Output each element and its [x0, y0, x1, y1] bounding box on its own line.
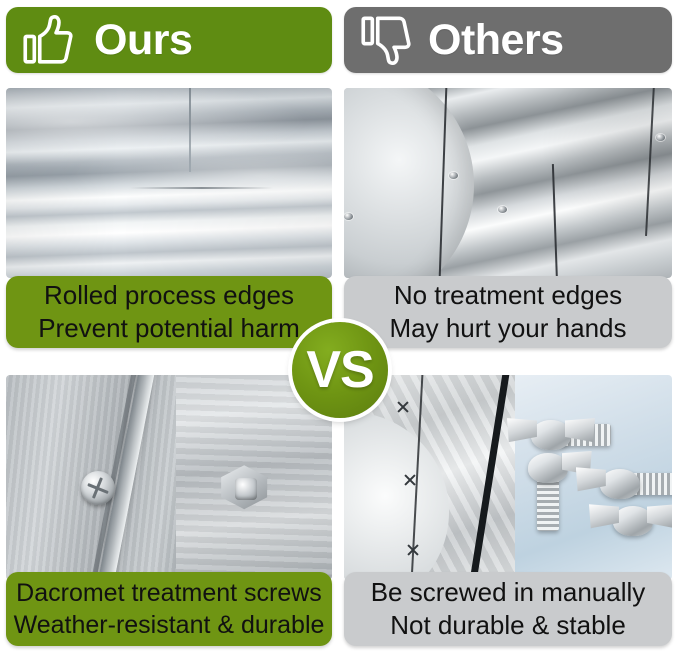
caption-line: Be screwed in manually [371, 576, 646, 609]
bolt-thread [537, 479, 559, 531]
seam-line [189, 88, 191, 172]
caption-line: Rolled process edges [44, 279, 294, 312]
photo-untreated-metal-edge [344, 88, 672, 278]
column-header-label: Ours [94, 19, 192, 62]
screw-hole [498, 206, 507, 213]
comparison-graphic: Ours Others Rolled process edges Prevent… [0, 0, 679, 655]
photo-rolled-metal-edge [6, 88, 332, 278]
hex-bolt [221, 465, 267, 509]
caption-dacromet-treatment-screws: Dacromet treatment screws Weather-resist… [6, 572, 332, 646]
caption-line: Weather-resistant & durable [14, 609, 325, 641]
caption-line: Prevent potential harm [38, 312, 300, 345]
photo-dacromet-screws [6, 375, 332, 580]
caption-rolled-process-edges: Rolled process edges Prevent potential h… [6, 276, 332, 348]
column-header-ours: Ours [6, 7, 332, 73]
screw-mark [406, 543, 420, 557]
seam-line [130, 187, 273, 189]
metal-texture [6, 88, 332, 278]
screw-mark [396, 400, 410, 414]
bolt-stud [235, 478, 257, 500]
screw-mark [403, 473, 417, 487]
thumbs-down-icon [356, 11, 414, 69]
thumbs-up-icon [18, 11, 76, 69]
caption-be-screwed-in-manually: Be screwed in manually Not durable & sta… [344, 572, 672, 646]
vs-badge: VS [292, 322, 388, 418]
caption-line: Dacromet treatment screws [16, 577, 322, 609]
caption-line: Not durable & stable [390, 609, 626, 642]
vs-badge-label: VS [306, 344, 373, 396]
screw-hole [656, 134, 665, 141]
column-header-others: Others [344, 7, 672, 73]
column-header-label: Others [428, 19, 564, 62]
photo-wing-bolts [344, 375, 672, 580]
bolt-head [600, 469, 640, 499]
caption-line: May hurt your hands [389, 312, 626, 345]
screw-hole [449, 172, 458, 179]
caption-no-treatment-edges: No treatment edges May hurt your hands [344, 276, 672, 348]
caption-line: No treatment edges [394, 279, 622, 312]
